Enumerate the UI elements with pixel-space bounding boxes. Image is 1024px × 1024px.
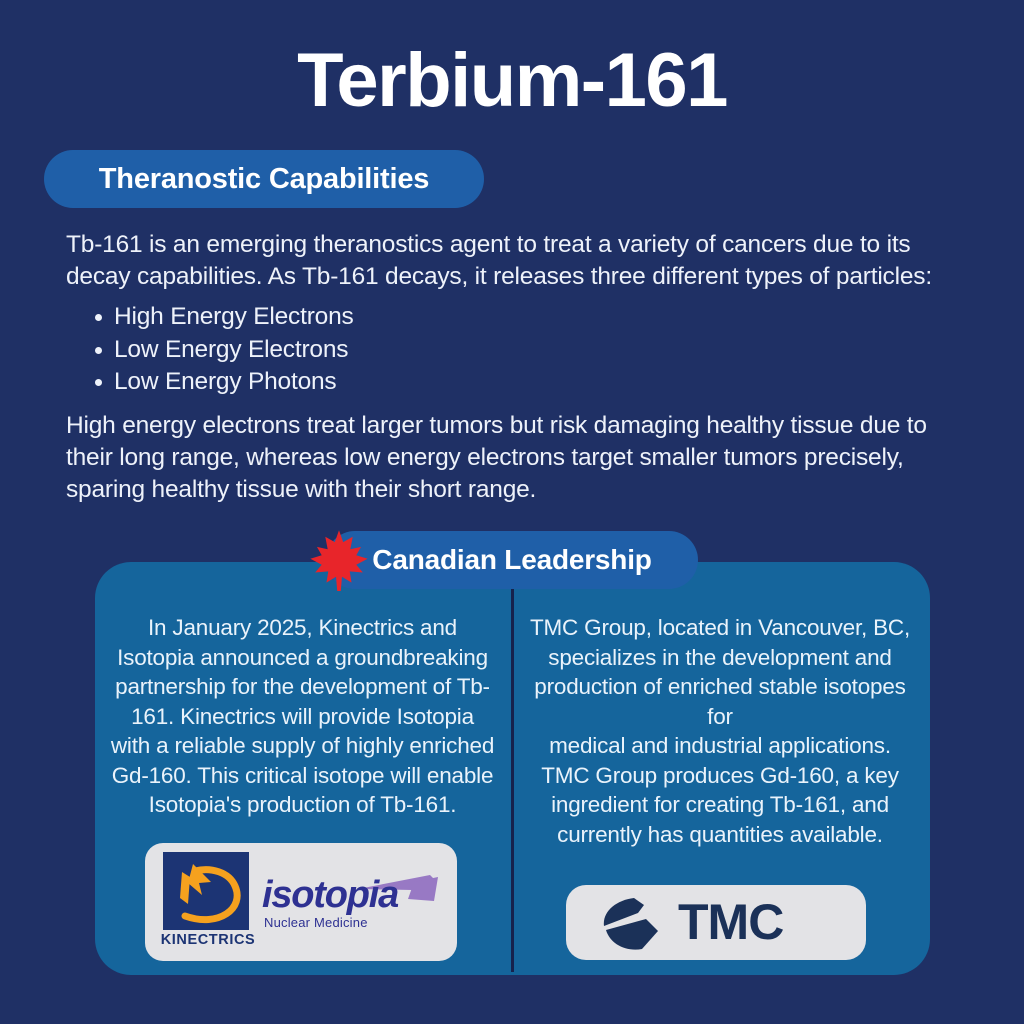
isotopia-tagline: Nuclear Medicine: [264, 915, 368, 930]
section-badge-theranostic-capabilities: Theranostic Capabilities: [44, 150, 484, 208]
page-title: Terbium-161: [0, 38, 1024, 124]
particle-types-list: High Energy Electrons Low Energy Electro…: [86, 301, 714, 399]
isotopia-wordmark: isotopia: [262, 875, 398, 915]
theranostic-paragraph-2: High energy electrons treat larger tumor…: [66, 410, 946, 506]
column-divider: [511, 572, 514, 972]
maple-leaf-icon: [309, 529, 369, 591]
infographic-page: Terbium-161 Theranostic Capabilities Tb-…: [0, 0, 1024, 1024]
kinectrics-logo: KINECTRICS: [156, 852, 260, 954]
list-item: Low Energy Photons: [114, 366, 714, 399]
kinectrics-mark: [163, 852, 249, 930]
tmc-logo: TMC: [600, 893, 840, 953]
kinectrics-wordmark: KINECTRICS: [156, 932, 260, 948]
kinectrics-arrow-icon: [163, 852, 249, 930]
tmc-wordmark: TMC: [678, 893, 783, 951]
tmc-group-description: TMC Group, located in Vancouver, BC, spe…: [525, 613, 915, 849]
section-badge-theranostic-label: Theranostic Capabilities: [99, 163, 429, 196]
theranostic-paragraph-1: Tb-161 is an emerging theranostics agent…: [66, 229, 966, 293]
isotopia-logo: isotopia Nuclear Medicine: [262, 867, 442, 939]
kinectrics-isotopia-description: In January 2025, Kinectrics and Isotopia…: [110, 613, 495, 820]
list-item: High Energy Electrons: [114, 301, 714, 334]
section-badge-canadian-leadership: Canadian Leadership: [326, 531, 698, 589]
tmc-mark-icon: [600, 895, 672, 953]
section-badge-canadian-label: Canadian Leadership: [372, 544, 651, 576]
list-item: Low Energy Electrons: [114, 334, 714, 367]
